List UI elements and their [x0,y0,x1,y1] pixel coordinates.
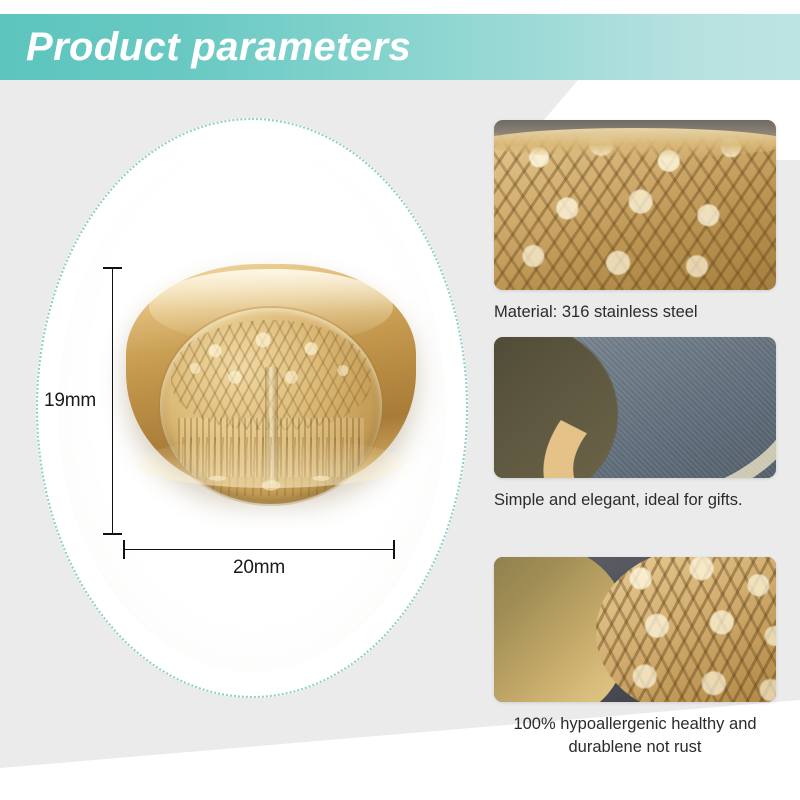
feature-block-material: Material: 316 stainless steel [494,120,776,324]
feature-caption-design: Simple and elegant, ideal for gifts. [494,489,776,512]
width-dimension-line [123,549,395,550]
height-dimension-label: 19mm [44,390,96,412]
ring-product-image [126,240,416,512]
tree-roots-engraving [182,437,360,496]
height-dimension-line [112,267,113,535]
feature-photo-card[interactable] [494,557,776,702]
ring-shoulder [126,264,416,490]
angled-signet-closeup-photo [494,557,776,702]
height-cap-top [103,267,122,269]
feature-photo-card[interactable] [494,337,776,478]
width-dimension-label: 20mm [123,557,395,579]
engraved-tree-texture-macro-photo [494,120,776,290]
tree-trunk-engraving [265,367,277,485]
page-title: Product parameters [26,14,726,80]
engraved-face-surface [596,557,776,702]
ring-rim-highlight [494,128,776,158]
feature-caption-hypoallergenic: 100% hypoallergenic healthy and durablen… [494,713,776,759]
feature-caption-material: Material: 316 stainless steel [494,301,776,324]
feature-block-design: Simple and elegant, ideal for gifts. [494,337,776,512]
feature-block-hypoallergenic: 100% hypoallergenic healthy and durablen… [494,557,776,759]
feature-photo-card[interactable] [494,120,776,290]
ring-signet-face [160,308,382,504]
product-parameters-infographic: Product parameters 19mm 20mm [0,0,800,800]
polished-gold-band-photo [494,337,776,478]
height-cap-bottom [103,533,122,535]
